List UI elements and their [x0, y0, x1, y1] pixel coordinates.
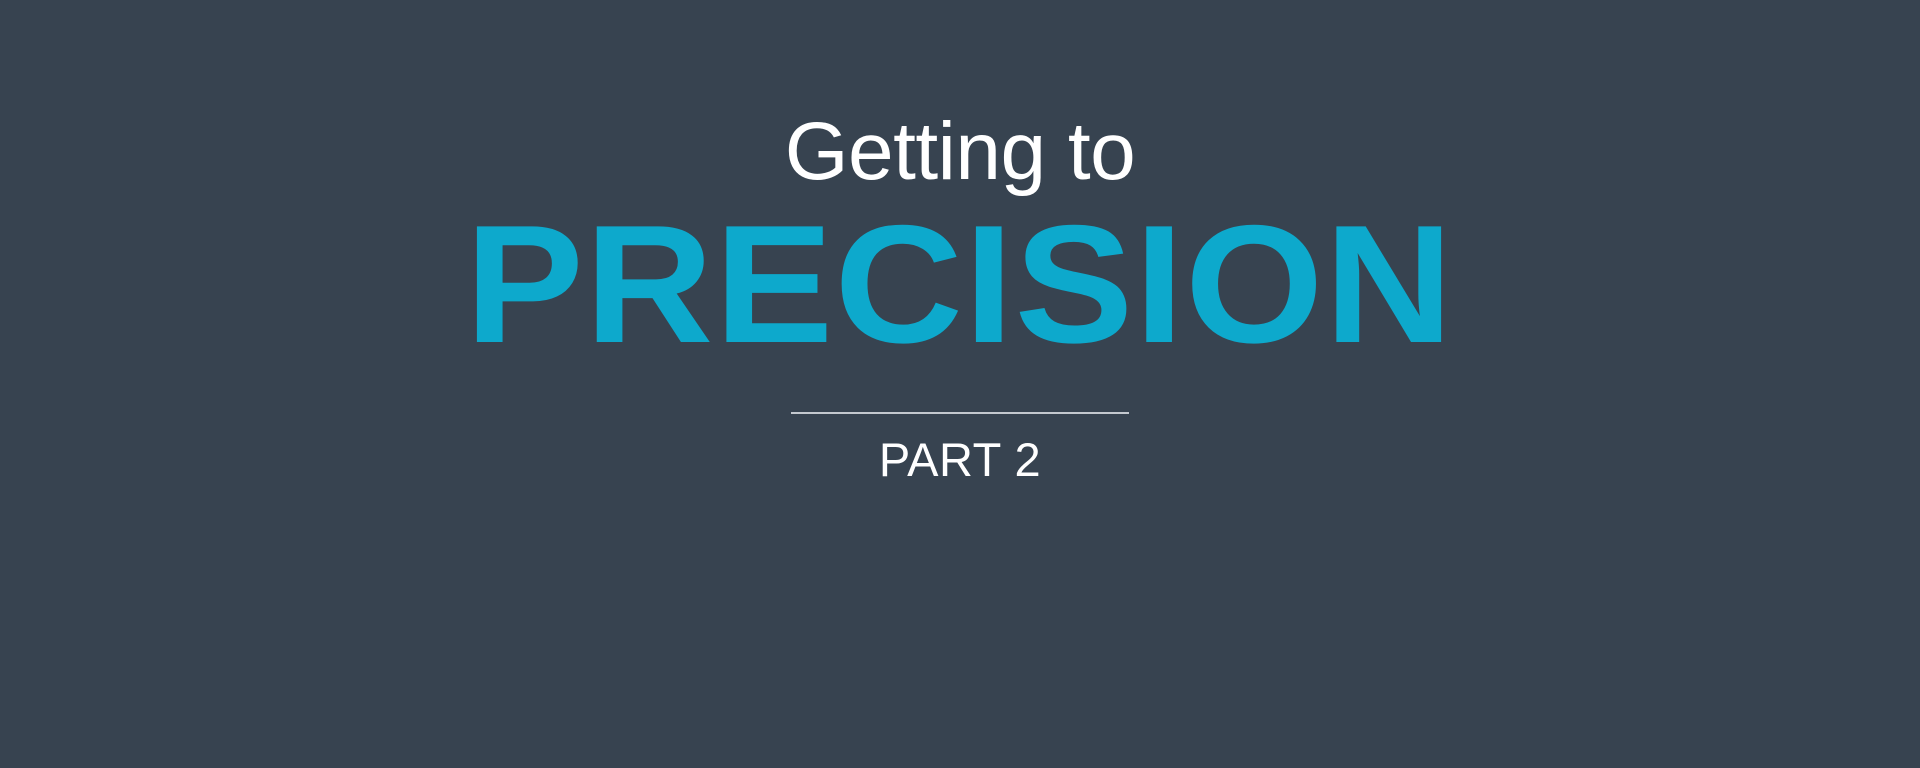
- title-slide: Getting to PRECISION PART 2: [0, 0, 1920, 768]
- page-title: PRECISION: [465, 200, 1454, 368]
- slide-part-label: PART 2: [879, 432, 1041, 488]
- title-divider: [791, 412, 1129, 414]
- slide-eyebrow: Getting to: [785, 104, 1136, 200]
- title-block: Getting to PRECISION PART 2: [0, 0, 1920, 768]
